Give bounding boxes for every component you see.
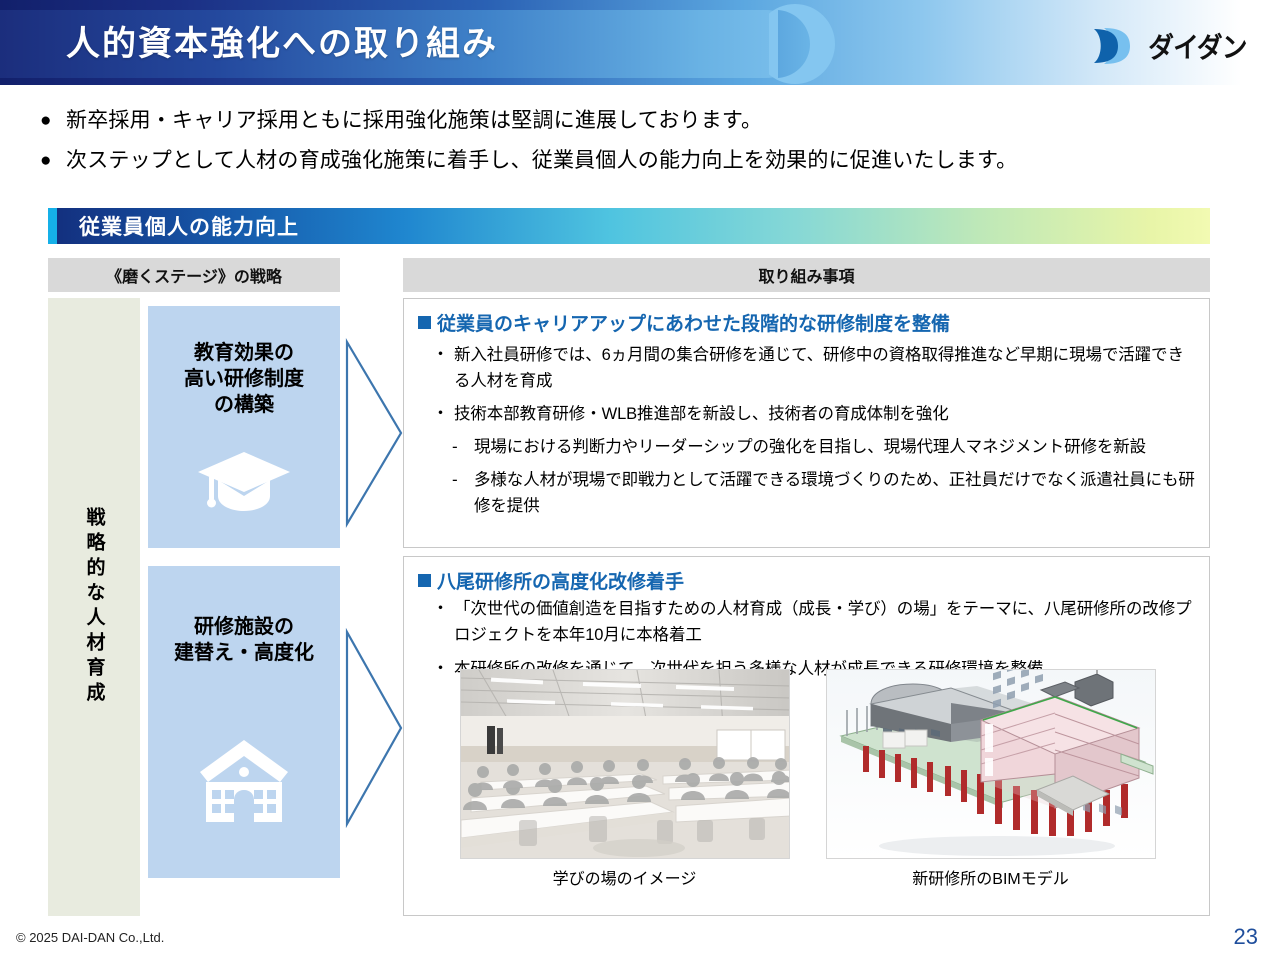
list-item-text: 現場における判断力やリーダーシップの強化を目指し、現場代理人マネジメント研修を新… bbox=[474, 434, 1146, 460]
figure-caption: 新研修所のBIMモデル bbox=[826, 865, 1156, 889]
theme-cell-facility: 研修施設の 建替え・高度化 bbox=[148, 566, 340, 878]
page-title: 人的資本強化への取り組み bbox=[66, 20, 498, 68]
daidan-mark-icon bbox=[1090, 26, 1136, 66]
slide-header: 人的資本強化への取り組み bbox=[0, 0, 1280, 88]
figure-bim: 新研修所のBIMモデル bbox=[826, 669, 1156, 889]
theme-cell-education: 教育効果の 高い研修制度 の構築 bbox=[148, 306, 340, 548]
bullet-dot-icon: ● bbox=[40, 104, 66, 138]
figure-row: 学びの場のイメージ bbox=[404, 669, 1211, 889]
bullet-marker-icon: ・ bbox=[432, 342, 454, 368]
list-item-text: 新入社員研修では、6ヵ月間の集合研修を通じて、研修中の資格取得推進など早期に現場… bbox=[454, 342, 1199, 394]
daidan-mark-svg bbox=[1090, 26, 1136, 66]
column-header-strategy: 《磨くステージ》の戦略 bbox=[48, 258, 340, 292]
lead-bullet-item: ● 新卒採用・キャリア採用ともに採用強化施策は堅調に進展しております。 bbox=[40, 104, 1240, 138]
school-building-svg bbox=[192, 738, 296, 824]
lead-bullet-item: ● 次ステップとして人材の育成強化施策に着手し、従業員個人の能力向上を効果的に促… bbox=[40, 144, 1240, 178]
graduation-cap-icon bbox=[196, 444, 292, 521]
content-cell-facility: 八尾研修所の高度化改修着手 ・ 「次世代の価値創造を目指すための人材育成（成長・… bbox=[403, 556, 1210, 916]
list-item-text: 多様な人材が現場で即戦力として活躍できる環境づくりのため、正社員だけでなく派遣社… bbox=[474, 467, 1199, 519]
list-item-text: 技術本部教育研修・WLB推進部を新設し、技術者の育成体制を強化 bbox=[454, 401, 949, 427]
list-item-text: 「次世代の価値創造を目指すための人材育成（成長・学び）の場」をテーマに、八尾研修… bbox=[454, 596, 1199, 648]
content-sub-bullet-list: - 現場における判断力やリーダーシップの強化を目指し、現場代理人マネジメント研修… bbox=[404, 434, 1209, 519]
lead-bullet-list: ● 新卒採用・キャリア採用ともに採用強化施策は堅調に進展しております。 ● 次ス… bbox=[40, 104, 1240, 184]
content-heading: 従業員のキャリアアップにあわせた段階的な研修制度を整備 bbox=[418, 309, 1209, 336]
list-item: ・ 新入社員研修では、6ヵ月間の集合研修を通じて、研修中の資格取得推進など早期に… bbox=[432, 342, 1199, 394]
bullet-marker-icon: ・ bbox=[432, 596, 454, 622]
theme-title: 研修施設の 建替え・高度化 bbox=[174, 614, 314, 666]
bim-model-render bbox=[826, 669, 1156, 859]
vertical-strategy-label: 戦略的な人材育成 bbox=[85, 507, 104, 707]
content-cell-education: 従業員のキャリアアップにあわせた段階的な研修制度を整備 ・ 新入社員研修では、6… bbox=[403, 298, 1210, 548]
list-item: ・ 技術本部教育研修・WLB推進部を新設し、技術者の育成体制を強化 bbox=[432, 401, 1199, 427]
lead-bullet-text: 次ステップとして人材の育成強化施策に着手し、従業員個人の能力向上を効果的に促進い… bbox=[66, 144, 1017, 178]
school-building-icon bbox=[192, 738, 296, 829]
content-bullet-list: ・ 新入社員研修では、6ヵ月間の集合研修を通じて、研修中の資格取得推進など早期に… bbox=[404, 342, 1209, 427]
bullet-dot-icon: ● bbox=[40, 144, 66, 178]
vertical-strategy-column: 戦略的な人材育成 bbox=[48, 298, 140, 916]
classroom-photo bbox=[460, 669, 790, 859]
list-item: - 現場における判断力やリーダーシップの強化を目指し、現場代理人マネジメント研修… bbox=[452, 434, 1199, 460]
page-number: 23 bbox=[1234, 924, 1258, 950]
copyright-text: © 2025 DAI-DAN Co.,Ltd. bbox=[16, 930, 164, 945]
logo-wordmark: ダイダン bbox=[1148, 26, 1246, 66]
header-underline bbox=[0, 85, 1280, 88]
table-body: 戦略的な人材育成 教育効果の 高い研修制度 の構築 従業員のキャリアアップにあわ… bbox=[48, 298, 1210, 916]
section-accent-bar bbox=[48, 208, 57, 244]
arrow-connector-1 bbox=[343, 338, 405, 528]
bullet-dash-icon: - bbox=[452, 434, 474, 460]
square-bullet-icon bbox=[418, 574, 431, 587]
figure-caption: 学びの場のイメージ bbox=[460, 865, 790, 889]
arrow-connector-2 bbox=[343, 628, 405, 828]
bullet-marker-icon: ・ bbox=[432, 401, 454, 427]
lead-bullet-text: 新卒採用・キャリア採用ともに採用強化施策は堅調に進展しております。 bbox=[66, 104, 762, 138]
content-heading-text: 八尾研修所の高度化改修着手 bbox=[437, 567, 684, 594]
classroom-photo-svg bbox=[461, 670, 790, 859]
square-bullet-icon bbox=[418, 316, 431, 329]
company-logo: ダイダン bbox=[1090, 24, 1262, 68]
table-header-row: 《磨くステージ》の戦略 取り組み事項 bbox=[48, 258, 1210, 292]
section-title: 従業員個人の能力向上 bbox=[57, 211, 299, 241]
section-gradient-bar: 従業員個人の能力向上 bbox=[57, 208, 1210, 244]
theme-title: 教育効果の 高い研修制度 の構築 bbox=[184, 340, 304, 418]
chevron-right-outline-icon bbox=[343, 628, 405, 828]
section-banner: 従業員個人の能力向上 bbox=[48, 208, 1210, 244]
figure-classroom: 学びの場のイメージ bbox=[460, 669, 790, 889]
content-heading-text: 従業員のキャリアアップにあわせた段階的な研修制度を整備 bbox=[437, 309, 950, 336]
chevron-right-outline-icon bbox=[343, 338, 405, 528]
bullet-dash-icon: - bbox=[452, 467, 474, 493]
bim-model-svg bbox=[827, 670, 1156, 859]
list-item: ・ 「次世代の価値創造を目指すための人材育成（成長・学び）の場」をテーマに、八尾… bbox=[432, 596, 1199, 648]
list-item: - 多様な人材が現場で即戦力として活躍できる環境づくりのため、正社員だけでなく派… bbox=[452, 467, 1199, 519]
graduation-cap-svg bbox=[196, 444, 292, 516]
column-header-initiatives: 取り組み事項 bbox=[403, 258, 1210, 292]
content-heading: 八尾研修所の高度化改修着手 bbox=[418, 567, 1209, 594]
